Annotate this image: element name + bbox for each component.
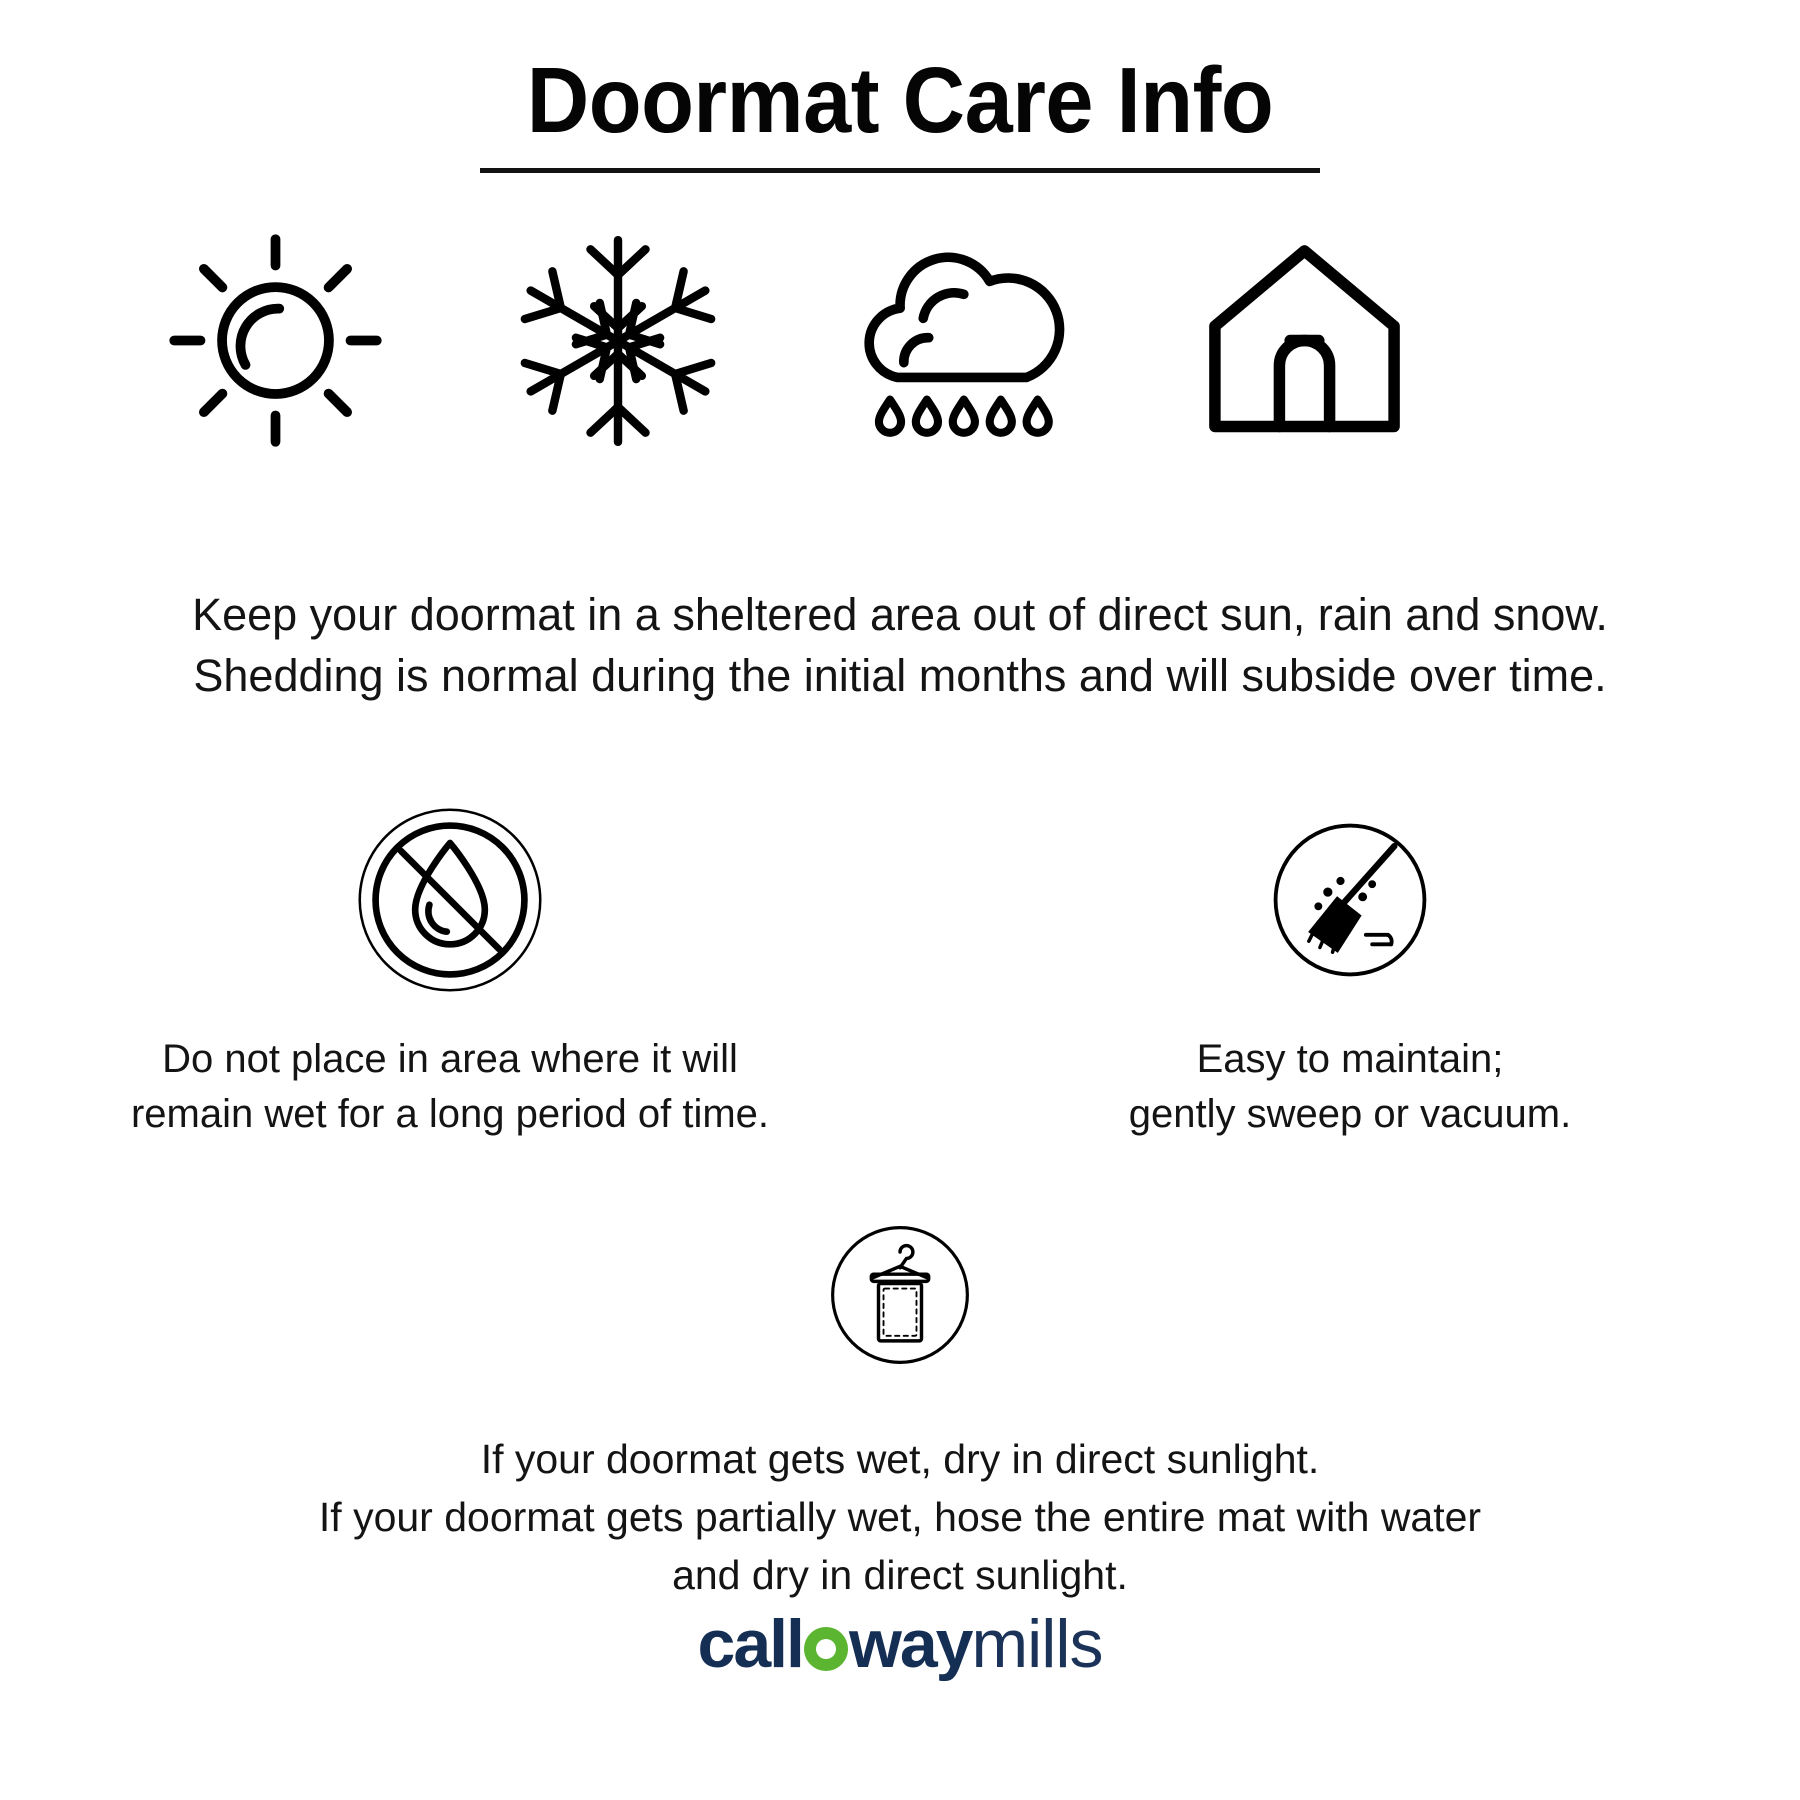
weather-cell-rain-cloud (837, 228, 1087, 453)
title-block: Doormat Care Info (0, 52, 1800, 173)
care-item-no-standing-water: Do not place in area where it will remai… (0, 800, 900, 1142)
logo-part-way: way (849, 1606, 972, 1682)
page-title: Doormat Care Info (63, 52, 1737, 150)
sun-icon (163, 228, 388, 453)
brand-logo: callwaymills (0, 1610, 1800, 1678)
drying-caption: If your doormat gets wet, dry in direct … (319, 1430, 1481, 1605)
drying-line-1: If your doormat gets wet, dry in direct … (319, 1430, 1481, 1488)
care-instructions-row: Do not place in area where it will remai… (0, 800, 1800, 1142)
title-divider (480, 168, 1320, 173)
weather-cell-snowflake (493, 228, 743, 453)
intro-paragraph: Keep your doormat in a sheltered area ou… (0, 585, 1800, 707)
doormat-care-infographic: Doormat Care Info (0, 0, 1800, 1800)
care-right-line-1: Easy to maintain; (1129, 1032, 1571, 1087)
hang-dry-icon-wrapper (805, 1200, 995, 1390)
weather-cell-sun (150, 228, 400, 453)
no-water-icon-wrapper (350, 800, 550, 1000)
logo-part-call: call (698, 1606, 803, 1682)
intro-line-2: Shedding is normal during the initial mo… (80, 646, 1720, 707)
snowflake-icon (508, 231, 728, 451)
care-caption-right: Easy to maintain; gently sweep or vacuum… (1129, 1032, 1571, 1142)
rain-cloud-icon (842, 233, 1082, 448)
care-left-line-2: remain wet for a long period of time. (131, 1087, 769, 1142)
weather-cell-house (1180, 228, 1430, 453)
broom-icon-wrapper (1250, 800, 1450, 1000)
no-water-icon (355, 805, 545, 995)
house-icon (1197, 233, 1412, 448)
hang-dry-icon (814, 1209, 986, 1381)
care-caption-left: Do not place in area where it will remai… (131, 1032, 769, 1142)
logo-part-mills: mills (971, 1606, 1102, 1682)
drying-instructions: If your doormat gets wet, dry in direct … (0, 1200, 1800, 1605)
logo-green-o-icon (804, 1627, 848, 1671)
drying-line-3: and dry in direct sunlight. (319, 1546, 1481, 1604)
drying-line-2: If your doormat gets partially wet, hose… (319, 1488, 1481, 1546)
weather-icon-row (150, 228, 1430, 453)
care-right-line-2: gently sweep or vacuum. (1129, 1087, 1571, 1142)
intro-line-1: Keep your doormat in a sheltered area ou… (80, 585, 1720, 646)
care-left-line-1: Do not place in area where it will (131, 1032, 769, 1087)
care-item-easy-maintain: Easy to maintain; gently sweep or vacuum… (900, 800, 1800, 1142)
broom-sweep-icon (1255, 805, 1445, 995)
logo-wordmark: callwaymills (698, 1610, 1103, 1678)
